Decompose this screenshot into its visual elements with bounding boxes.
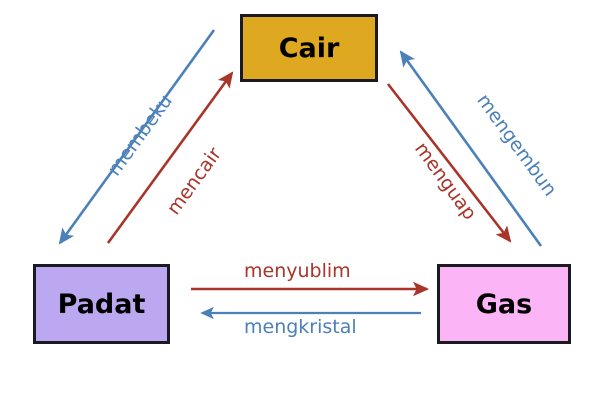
edge-label-mengkristal: mengkristal (244, 318, 357, 337)
state-box-cair[interactable]: Cair (240, 14, 378, 82)
state-box-padat[interactable]: Padat (33, 264, 170, 344)
state-box-gas[interactable]: Gas (437, 264, 571, 344)
state-label-gas: Gas (476, 291, 532, 318)
state-label-padat: Padat (58, 291, 146, 318)
edge-label-menyublim: menyublim (244, 262, 351, 281)
state-label-cair: Cair (279, 35, 340, 62)
phase-change-diagram: Cair Padat Gas membeku mencair menguap m… (0, 0, 600, 400)
